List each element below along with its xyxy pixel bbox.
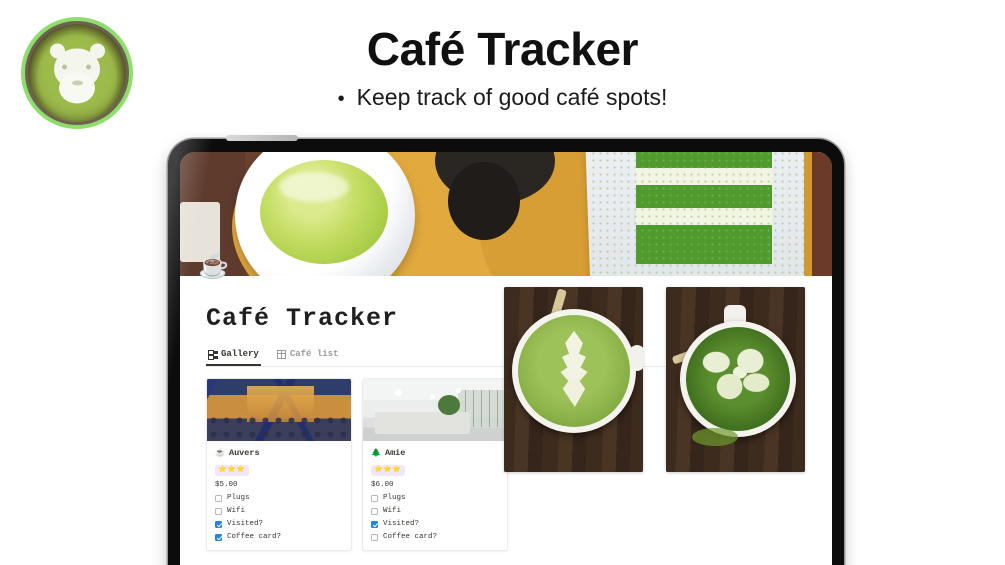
checkbox-wifi[interactable] (215, 508, 222, 515)
tab-gallery[interactable]: Gallery (206, 346, 261, 366)
checkbox-visited[interactable] (371, 521, 378, 528)
checkbox-visited-label: Visited? (383, 520, 419, 528)
poster-root: Café Tracker • Keep track of good café s… (0, 0, 1005, 565)
coffee-icon: ☕ (215, 448, 225, 458)
tab-cafe-list-label: Café list (290, 349, 339, 359)
rating-badge: ⭐⭐⭐ (215, 465, 249, 476)
table-icon (277, 350, 286, 359)
tablet-device: ☕ Café Tracker Gallery Café list (168, 139, 844, 565)
tab-gallery-label: Gallery (221, 349, 259, 359)
rating-badge: ⭐⭐⭐ (371, 465, 405, 476)
price-value: $6.00 (371, 481, 499, 489)
tagline-text: Keep track of good café spots! (357, 84, 668, 111)
tablet-screen: ☕ Café Tracker Gallery Café list (180, 152, 832, 565)
checkbox-row-coffee-card[interactable]: Coffee card? (215, 533, 343, 541)
checkbox-row-wifi[interactable]: Wifi (215, 507, 343, 515)
checkbox-coffee-card-label: Coffee card? (227, 533, 281, 541)
card-title: Amie (385, 448, 405, 458)
checkbox-plugs[interactable] (371, 495, 378, 502)
notion-page-content: Café Tracker Gallery Café list (180, 276, 832, 565)
coffee-cup-icon[interactable]: ☕ (198, 250, 230, 282)
checkbox-row-plugs[interactable]: Plugs (215, 494, 343, 502)
checkbox-visited[interactable] (215, 521, 222, 528)
card-title-row: 🌲 Amie (371, 448, 499, 458)
photo-swan-latte[interactable] (666, 287, 805, 472)
checkbox-plugs-label: Plugs (227, 494, 250, 502)
gallery-grid-icon (208, 350, 217, 359)
gallery-card-auvers[interactable]: ☕ Auvers ⭐⭐⭐ $5.00 Plugs Wifi (206, 378, 352, 551)
notion-cover-image[interactable] (180, 152, 832, 276)
photo-rosetta-latte[interactable] (504, 287, 643, 472)
gallery-card-amie[interactable]: 🌲 Amie ⭐⭐⭐ $6.00 Plugs Wifi (362, 378, 508, 551)
checkbox-coffee-card[interactable] (215, 534, 222, 541)
card-title-row: ☕ Auvers (215, 448, 343, 458)
checkbox-plugs[interactable] (215, 495, 222, 502)
checkbox-row-visited[interactable]: Visited? (215, 520, 343, 528)
checkbox-wifi-label: Wifi (227, 507, 245, 515)
page-title: Café Tracker (0, 22, 1005, 76)
card-title: Auvers (229, 448, 260, 458)
checkbox-coffee-card-label: Coffee card? (383, 533, 437, 541)
checkbox-row-visited[interactable]: Visited? (371, 520, 499, 528)
checkbox-row-plugs[interactable]: Plugs (371, 494, 499, 502)
checkbox-wifi[interactable] (371, 508, 378, 515)
checkbox-plugs-label: Plugs (383, 494, 406, 502)
checkbox-coffee-card[interactable] (371, 534, 378, 541)
checkbox-wifi-label: Wifi (383, 507, 401, 515)
tab-cafe-list[interactable]: Café list (275, 346, 341, 366)
tree-icon: 🌲 (371, 448, 381, 458)
gallery-cards: ☕ Auvers ⭐⭐⭐ $5.00 Plugs Wifi (206, 378, 806, 551)
tagline-row: • Keep track of good café spots! (0, 84, 1005, 111)
checkbox-visited-label: Visited? (227, 520, 263, 528)
bullet-icon: • (338, 89, 345, 109)
price-value: $5.00 (215, 481, 343, 489)
card-image (363, 379, 507, 441)
checkbox-row-wifi[interactable]: Wifi (371, 507, 499, 515)
matcha-photos (504, 287, 805, 472)
checkbox-row-coffee-card[interactable]: Coffee card? (371, 533, 499, 541)
card-image (207, 379, 351, 441)
